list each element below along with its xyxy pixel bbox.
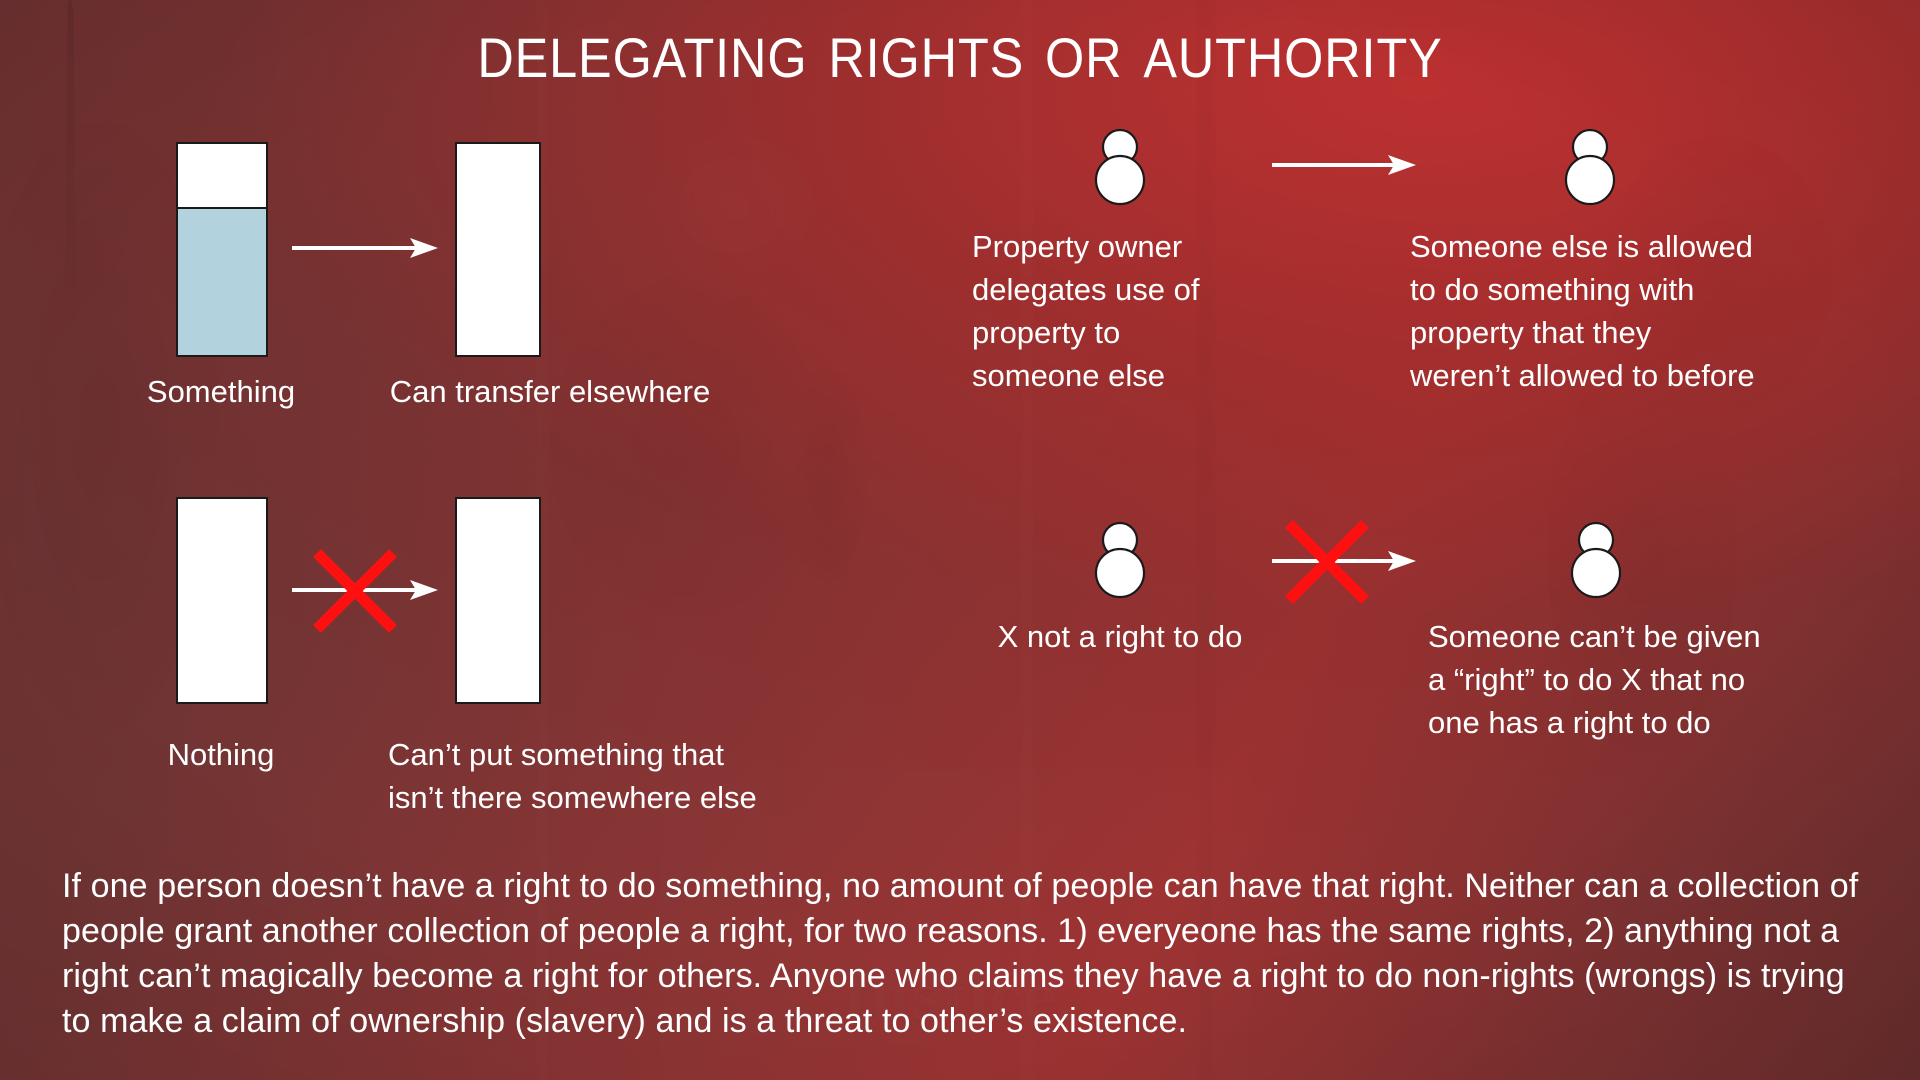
footer-paragraph: If one person doesn’t have a right to do… (62, 864, 1874, 1044)
row1-source-label: Something (96, 370, 346, 413)
row2-target-person-icon (1568, 521, 1624, 597)
row1-source-person-label: Property owner delegates use of property… (972, 225, 1282, 397)
row1-target-label: Can transfer elsewhere (330, 370, 770, 413)
row1-right-arrow-icon (1272, 152, 1416, 178)
row1-target-person-icon (1562, 128, 1618, 204)
slide-canvas: Justice. Delegating Rights or Authority … (0, 0, 1920, 1080)
row2-target-container (455, 497, 541, 704)
row2-left-red-x-icon (310, 546, 400, 636)
row2-right-red-x-icon (1282, 517, 1372, 607)
row2-source-container (176, 497, 268, 704)
row1-target-container (455, 142, 541, 357)
slide-content: Delegating Rights or Authority Something… (0, 0, 1920, 1080)
row2-target-person-label: Someone can’t be given a “right” to do X… (1428, 615, 1878, 744)
row2-source-person-icon (1092, 521, 1148, 597)
row2-source-label: Nothing (96, 733, 346, 776)
row2-source-person-label: X not a right to do (960, 615, 1280, 658)
row1-source-container (176, 142, 268, 357)
row1-target-person-label: Someone else is allowed to do something … (1410, 225, 1860, 397)
row1-left-arrow-icon (292, 235, 438, 261)
row1-source-container-fill (178, 207, 266, 355)
page-title: Delegating Rights or Authority (96, 2, 1824, 98)
row1-source-person-icon (1092, 128, 1148, 204)
row2-target-label: Can’t put something that isn’t there som… (388, 733, 858, 819)
